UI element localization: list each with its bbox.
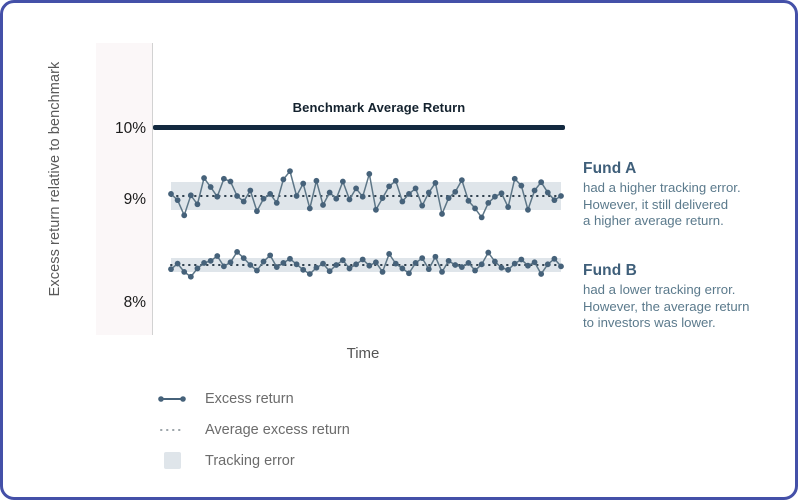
annotation-fund-a-body: had a higher tracking error. However, it… [583,180,793,230]
y-tick-background-panel [96,43,152,335]
excess-return-points-fund-a [168,168,564,220]
legend-label-average-excess-return: Average excess return [193,422,350,438]
x-axis-title: Time [153,345,573,362]
chart-legend: Excess return Average excess return Trac… [151,383,350,476]
legend-item-average-excess-return: Average excess return [151,414,350,445]
annotation-fund-b: Fund B had a lower tracking error. Howev… [583,262,793,332]
annotation-fund-b-title: Fund B [583,262,793,280]
legend-label-excess-return: Excess return [193,391,294,407]
legend-item-excess-return: Excess return [151,383,350,414]
dotted-line-icon [151,424,193,436]
y-tick-label-10: 10% [96,121,146,137]
y-tick-label-8: 8% [96,295,146,311]
chart-frame: Excess return relative to benchmark 10% … [0,0,798,500]
annotation-fund-b-body: had a lower tracking error. However, the… [583,282,793,332]
legend-item-tracking-error: Tracking error [151,445,350,476]
annotation-fund-a: Fund A had a higher tracking error. Howe… [583,160,793,230]
shaded-band-icon [151,452,193,469]
series-plot-area [153,43,583,343]
legend-label-tracking-error: Tracking error [193,453,295,469]
annotation-fund-a-title: Fund A [583,160,793,178]
line-with-dots-icon [151,393,193,405]
y-axis-title: Excess return relative to benchmark [47,39,63,319]
y-tick-label-9: 9% [96,192,146,208]
